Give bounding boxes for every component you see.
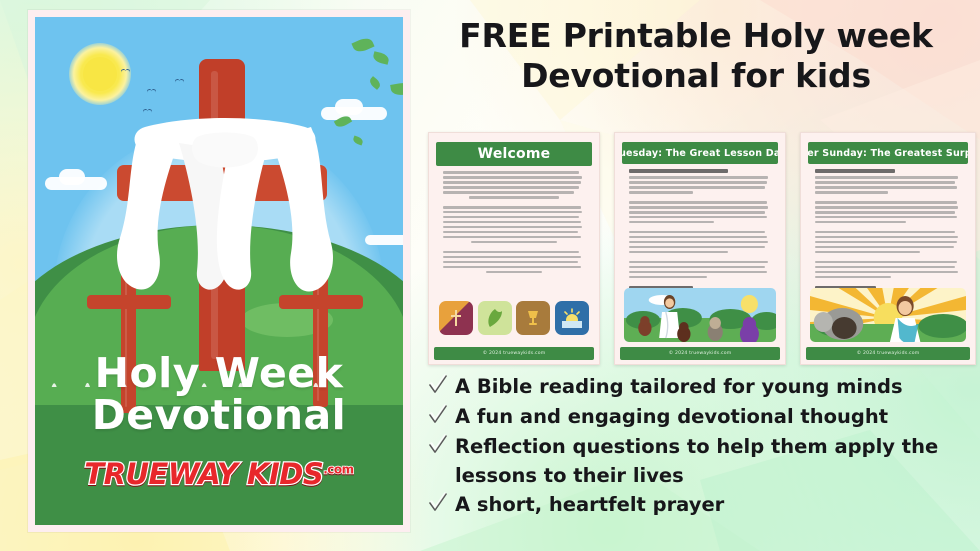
sun-core-icon	[83, 57, 117, 91]
page-illustration-jesus-teaching	[624, 288, 776, 342]
page-body	[806, 164, 970, 300]
list-item-label: A fun and engaging devotional thought	[455, 403, 976, 432]
donkey-palm-icon	[439, 301, 473, 335]
list-item-label: Reflection questions to help them apply …	[455, 433, 976, 491]
page-footer: © 2024 truewaykids.com	[806, 347, 970, 360]
page-body	[620, 164, 780, 300]
cloud-icon	[59, 169, 85, 185]
list-item: Reflection questions to help them apply …	[428, 433, 976, 491]
logo-text: TRUEWAY KIDS	[84, 457, 323, 491]
page-footer: © 2024 truewaykids.com	[434, 347, 594, 360]
list-item: A fun and engaging devotional thought	[428, 403, 976, 432]
page-banner-title: Welcome	[436, 142, 592, 166]
feature-list: A Bible reading tailored for young minds…	[428, 373, 976, 521]
page-banner-title: Tuesday: The Great Lesson Day	[622, 142, 778, 164]
list-item: A short, heartfelt prayer	[428, 491, 976, 520]
check-icon	[428, 492, 448, 514]
poster-title-line2: Devotional	[35, 395, 403, 437]
check-icon	[428, 434, 448, 456]
printable-pages-gallery: Welcome	[428, 132, 976, 367]
poster-preview[interactable]: Holy Week Devotional TRUEWAY KIDS.com	[28, 10, 410, 532]
headline-line1: FREE Printable Holy week	[418, 16, 974, 56]
logo-suffix: .com	[323, 462, 353, 476]
poster-title-line1: Holy Week	[35, 353, 403, 395]
page-illustration-empty-tomb	[810, 288, 966, 342]
page-title: FREE Printable Holy week Devotional for …	[418, 16, 974, 97]
headline-line2: Devotional for kids	[418, 56, 974, 96]
palm-leaf-icon	[478, 301, 512, 335]
poster-title: Holy Week Devotional	[35, 353, 403, 437]
theme-icon-row	[439, 298, 589, 338]
page-banner-title: Easter Sunday: The Greatest Surprise	[808, 142, 968, 164]
check-icon	[428, 374, 448, 396]
printable-page-welcome[interactable]: Welcome	[428, 132, 600, 365]
communion-cup-icon	[516, 301, 550, 335]
printable-page-easter-sunday[interactable]: Easter Sunday: The Greatest Surprise	[800, 132, 976, 365]
white-cloth-icon	[105, 113, 343, 293]
list-item-label: A Bible reading tailored for young minds	[455, 373, 976, 402]
sunrise-icon	[555, 301, 589, 335]
page-footer: © 2024 truewaykids.com	[620, 347, 780, 360]
list-item-label: A short, heartfelt prayer	[455, 491, 976, 520]
page-body	[434, 166, 594, 273]
poster-artwork: Holy Week Devotional TRUEWAY KIDS.com	[35, 17, 403, 525]
list-item: A Bible reading tailored for young minds	[428, 373, 976, 402]
cloud-icon	[365, 235, 403, 245]
brand-logo[interactable]: TRUEWAY KIDS.com	[35, 457, 403, 491]
check-icon	[428, 404, 448, 426]
printable-page-tuesday[interactable]: Tuesday: The Great Lesson Day	[614, 132, 786, 365]
